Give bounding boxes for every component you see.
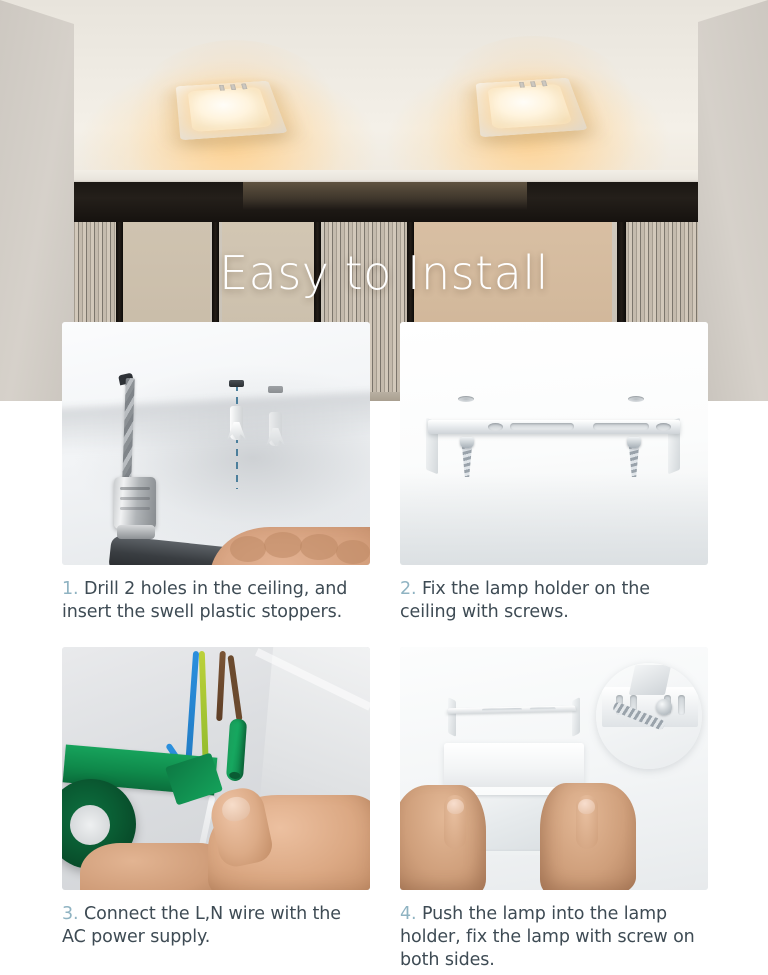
- step-card-1: 1. Drill 2 holes in the ceiling, and ins…: [62, 322, 370, 625]
- screw-shank: [462, 446, 472, 477]
- drilled-hole: [458, 396, 474, 402]
- lamp-vent-icon: [230, 84, 236, 90]
- background-shadow: [400, 473, 708, 565]
- drill-collar: [117, 525, 155, 539]
- bracket-slot: [593, 423, 649, 430]
- step-1-text: Drill 2 holes in the ceiling, and insert…: [62, 579, 347, 622]
- lamp-vent-icon: [541, 81, 547, 87]
- step-2-text: Fix the lamp holder on the ceiling with …: [400, 579, 650, 622]
- bracket-hole: [488, 423, 503, 431]
- steps-row-2: 3. Connect the L,N wire with the AC powe…: [62, 647, 708, 973]
- ceiling-surface: [0, 0, 768, 184]
- screw-head-icon: [268, 386, 283, 393]
- screw-shank: [629, 446, 639, 477]
- left-hand: [400, 785, 486, 890]
- step-1-number: 1.: [62, 579, 79, 599]
- mounting-bracket: [446, 699, 578, 720]
- mounting-bracket: [428, 420, 680, 434]
- lamp-housing: [444, 743, 584, 789]
- step-4-number: 4.: [400, 904, 417, 924]
- knuckle: [230, 536, 266, 562]
- bracket-slot: [530, 707, 556, 710]
- lamp-vent-icon: [241, 84, 247, 90]
- step-card-3: 3. Connect the L,N wire with the AC powe…: [62, 647, 370, 973]
- step-3-text: Connect the L,N wire with the AC power s…: [62, 904, 341, 947]
- step-2-number: 2.: [400, 579, 417, 599]
- right-wall: [698, 0, 768, 401]
- step-4-photo: [400, 647, 708, 890]
- detail-screw-head: [656, 699, 672, 715]
- installation-steps-grid: 1. Drill 2 holes in the ceiling, and ins…: [62, 322, 708, 972]
- bracket-slot: [678, 695, 685, 715]
- lamp-vent-icon: [219, 85, 225, 91]
- screw-head: [460, 437, 474, 448]
- step-card-4: 4. Push the lamp into the lamp holder, f…: [400, 647, 708, 973]
- step-card-2: 2. Fix the lamp holder on the ceiling wi…: [400, 322, 708, 625]
- lamp-diffuser: [488, 84, 573, 129]
- drilled-hole: [628, 396, 644, 402]
- bracket-hole: [656, 423, 671, 431]
- drill-chuck: [114, 477, 156, 529]
- step-3-caption: 3. Connect the L,N wire with the AC powe…: [62, 903, 370, 950]
- step-1-photo: [62, 322, 370, 565]
- lamp-vent-icon: [519, 82, 525, 88]
- bracket-slot: [510, 423, 574, 430]
- step-4-caption: 4. Push the lamp into the lamp holder, f…: [400, 903, 708, 973]
- step-2-caption: 2. Fix the lamp holder on the ceiling wi…: [400, 578, 708, 625]
- lamp-vent-icon: [530, 81, 536, 87]
- step-4-text: Push the lamp into the lamp holder, fix …: [400, 904, 695, 971]
- mounting-screw: [627, 437, 641, 477]
- door-header-beam: [62, 182, 708, 222]
- lamp-diffuser: [188, 87, 273, 132]
- ceiling-lamp-left: [176, 81, 288, 140]
- plastic-anchor: [230, 406, 243, 440]
- steps-row-1: 1. Drill 2 holes in the ceiling, and ins…: [62, 322, 708, 625]
- fingernail: [447, 799, 464, 814]
- bracket-slot: [482, 707, 522, 710]
- page-title: Easy to Install: [0, 246, 768, 300]
- step-1-caption: 1. Drill 2 holes in the ceiling, and ins…: [62, 578, 370, 625]
- lamp-edge-detail: [629, 665, 671, 695]
- plastic-anchor: [269, 412, 282, 446]
- screw-detail-inset: [596, 663, 702, 769]
- step-2-photo: [400, 322, 708, 565]
- fingernail: [578, 799, 595, 814]
- knuckle: [336, 540, 370, 564]
- mounting-screw: [460, 437, 474, 477]
- screw-head: [627, 437, 641, 448]
- knuckle: [264, 532, 302, 558]
- step-3-number: 3.: [62, 904, 79, 924]
- knuckle: [300, 534, 338, 560]
- ceiling-lamp-right: [476, 78, 588, 137]
- step-3-photo: [62, 647, 370, 890]
- screw-head-icon: [229, 380, 244, 387]
